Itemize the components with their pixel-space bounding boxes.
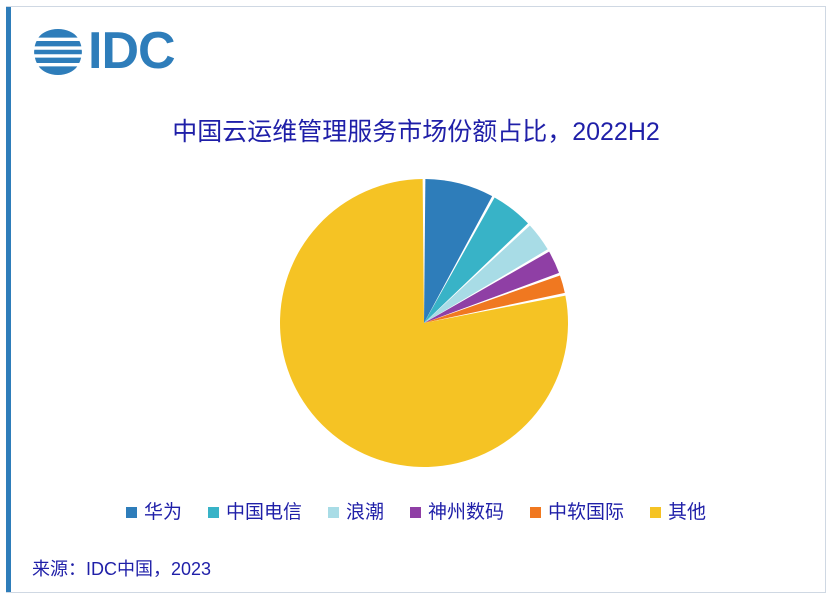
legend-label-chinasoft: 中软国际 <box>548 503 624 522</box>
legend-swatch-chinasoft <box>530 507 541 518</box>
source-note: 来源：IDC中国，2023 <box>32 555 211 581</box>
idc-globe-icon <box>32 26 84 76</box>
chart-title: 中国云运维管理服务市场份额占比，2022H2 <box>0 112 832 148</box>
legend-item-huawei[interactable]: 华为 <box>126 503 182 522</box>
frame-bottom-border <box>6 592 826 593</box>
legend-swatch-china-telecom <box>208 507 219 518</box>
legend-label-china-telecom: 中国电信 <box>226 503 302 522</box>
legend-label-digital-china: 神州数码 <box>428 503 504 522</box>
legend-item-digital-china[interactable]: 神州数码 <box>410 503 504 522</box>
legend-swatch-inspur <box>328 507 339 518</box>
legend-item-others[interactable]: 其他 <box>650 503 706 522</box>
legend-swatch-huawei <box>126 507 137 518</box>
legend-swatch-digital-china <box>410 507 421 518</box>
legend-swatch-others <box>650 507 661 518</box>
chart-canvas: IDC 中国云运维管理服务市场份额占比，2022H2 华为 中国电信 浪潮 神州… <box>0 0 832 599</box>
legend-item-chinasoft[interactable]: 中软国际 <box>530 503 624 522</box>
idc-logo-text: IDC <box>88 26 175 76</box>
pie-chart <box>279 178 569 468</box>
frame-top-border <box>6 6 826 7</box>
pie-chart-svg <box>279 178 569 468</box>
legend-item-inspur[interactable]: 浪潮 <box>328 503 384 522</box>
legend-label-others: 其他 <box>668 503 706 522</box>
legend-label-huawei: 华为 <box>144 503 182 522</box>
idc-logo: IDC <box>32 26 175 76</box>
legend-item-china-telecom[interactable]: 中国电信 <box>208 503 302 522</box>
legend-label-inspur: 浪潮 <box>346 503 384 522</box>
pie-slice-group <box>280 179 568 467</box>
chart-legend: 华为 中国电信 浪潮 神州数码 中软国际 其他 <box>0 503 832 522</box>
